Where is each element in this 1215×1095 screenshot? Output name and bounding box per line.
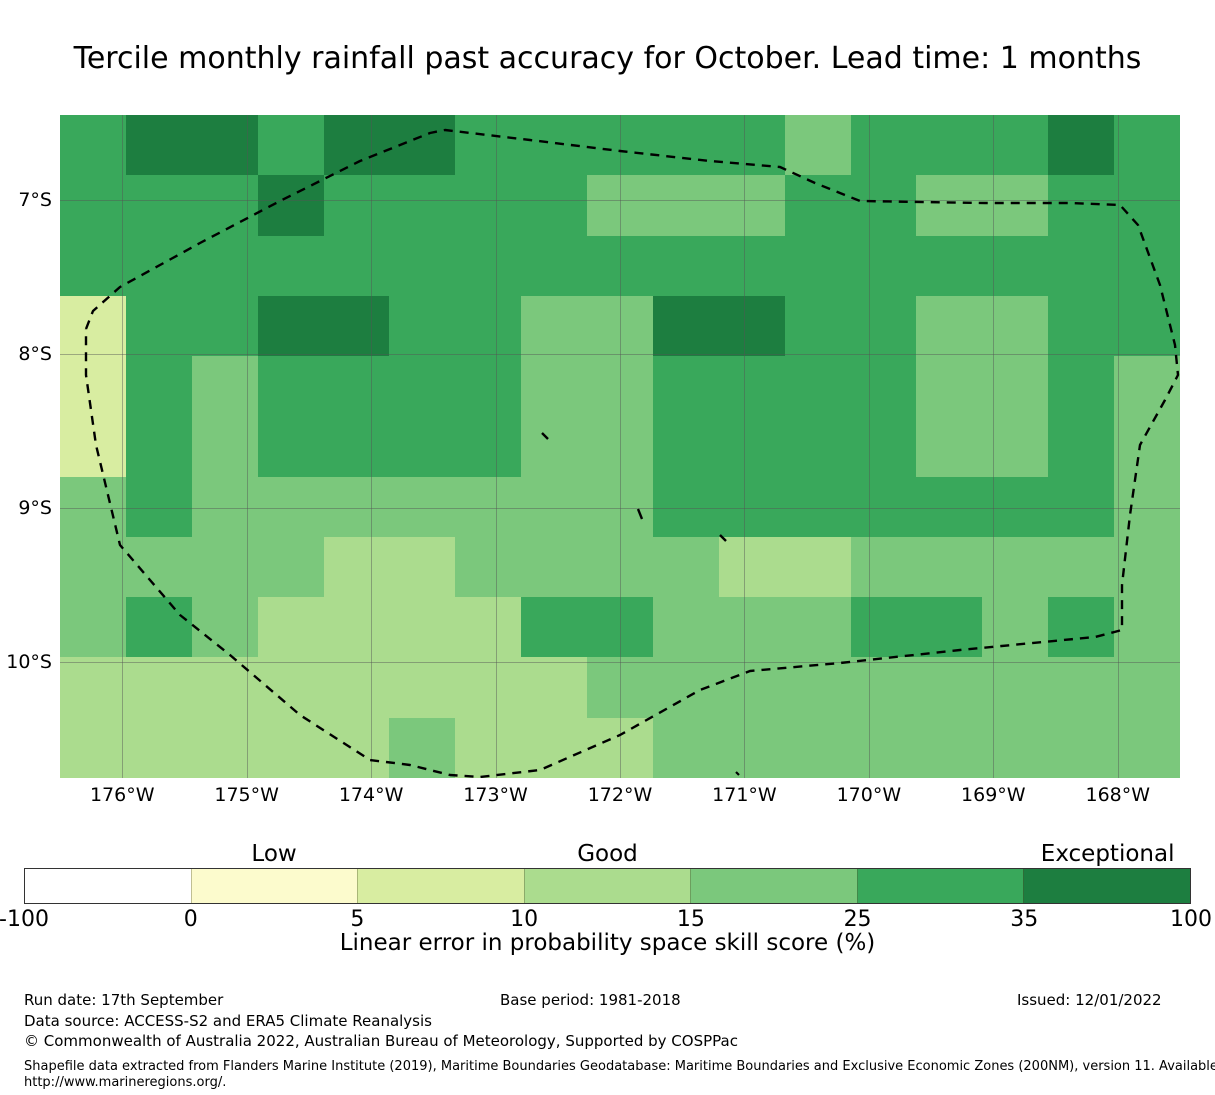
colorbar-segments[interactable]: [24, 868, 1191, 904]
heatmap-cell: [1048, 356, 1114, 416]
colorbar-band-label: Good: [498, 841, 718, 867]
heatmap-cell: [719, 236, 785, 296]
heatmap-cell: [258, 597, 324, 657]
heatmap-cell: [785, 296, 851, 356]
heatmap-cell: [587, 356, 653, 416]
heatmap-cell: [851, 597, 917, 657]
heatmap-cell: [389, 657, 455, 717]
heatmap-cell: [521, 657, 587, 717]
x-tick-label: 172°W: [565, 784, 675, 806]
heatmap-cell: [389, 597, 455, 657]
heatmap-cell: [192, 416, 258, 476]
colorbar-title: Linear error in probability space skill …: [0, 930, 1215, 956]
heatmap-cell: [60, 597, 126, 657]
heatmap-plot: [60, 115, 1180, 778]
heatmap-cell: [851, 477, 917, 537]
y-tick-label: 9°S: [0, 497, 52, 519]
x-tick-label: 169°W: [938, 784, 1048, 806]
x-tick-label: 175°W: [192, 784, 302, 806]
heatmap-cell: [1114, 416, 1180, 476]
heatmap-cell: [324, 477, 390, 537]
heatmap-cell: [653, 657, 719, 717]
colorbar-tick-label: 10: [479, 907, 569, 932]
heatmap-cell: [982, 718, 1048, 778]
heatmap-cell: [126, 416, 192, 476]
heatmap-cell: [587, 477, 653, 537]
heatmap-cell: [719, 657, 785, 717]
heatmap-cell: [916, 537, 982, 597]
heatmap-cell: [455, 597, 521, 657]
heatmap-cell: [324, 175, 390, 235]
heatmap-cell: [982, 657, 1048, 717]
heatmap-cell: [719, 597, 785, 657]
heatmap-cell: [455, 175, 521, 235]
heatmap-cell: [60, 296, 126, 356]
heatmap-cell: [719, 296, 785, 356]
heatmap-cell: [851, 356, 917, 416]
heatmap-cell: [1048, 537, 1114, 597]
heatmap-cell: [1048, 416, 1114, 476]
heatmap-cell: [1048, 236, 1114, 296]
heatmap-cell: [982, 537, 1048, 597]
heatmap-cell: [389, 477, 455, 537]
heatmap-cell: [916, 115, 982, 175]
heatmap-cell: [587, 416, 653, 476]
heatmap-cell: [1114, 537, 1180, 597]
heatmap-cell: [653, 597, 719, 657]
heatmap-cell: [785, 718, 851, 778]
heatmap-cell: [258, 657, 324, 717]
heatmap-grid: [60, 115, 1180, 778]
x-tick-label: 168°W: [1063, 784, 1173, 806]
heatmap-cell: [1114, 236, 1180, 296]
heatmap-cell: [455, 115, 521, 175]
colorbar-segment[interactable]: [25, 869, 191, 903]
heatmap-cell: [324, 416, 390, 476]
y-tick-label: 7°S: [0, 189, 52, 211]
heatmap-cell: [719, 115, 785, 175]
footer-run-date: Run date: 17th September: [24, 991, 223, 1009]
heatmap-cell: [851, 296, 917, 356]
colorbar-segment[interactable]: [857, 869, 1024, 903]
footer-shapefile-line-1: Shapefile data extracted from Flanders M…: [24, 1059, 1215, 1074]
heatmap-cell: [60, 537, 126, 597]
heatmap-cell: [60, 477, 126, 537]
heatmap-cell: [916, 597, 982, 657]
heatmap-cell: [258, 175, 324, 235]
heatmap-cell: [916, 477, 982, 537]
heatmap-cell: [785, 416, 851, 476]
heatmap-cell: [324, 356, 390, 416]
heatmap-cell: [389, 296, 455, 356]
footer-issued-date: Issued: 12/01/2022: [1017, 991, 1162, 1009]
heatmap-cell: [1048, 657, 1114, 717]
footer-copyright: © Commonwealth of Australia 2022, Austra…: [24, 1032, 738, 1050]
x-tick-label: 174°W: [316, 784, 426, 806]
heatmap-cell: [653, 477, 719, 537]
colorbar-tick-label: 5: [312, 907, 402, 932]
heatmap-cell: [916, 416, 982, 476]
heatmap-cell: [521, 537, 587, 597]
heatmap-cell: [1048, 597, 1114, 657]
heatmap-cell: [719, 718, 785, 778]
heatmap-cell: [258, 416, 324, 476]
heatmap-cell: [1114, 657, 1180, 717]
heatmap-cell: [719, 416, 785, 476]
heatmap-cell: [126, 115, 192, 175]
heatmap-cell: [1114, 477, 1180, 537]
heatmap-cell: [1114, 597, 1180, 657]
footer-data-source: Data source: ACCESS-S2 and ERA5 Climate …: [24, 1012, 432, 1030]
heatmap-cell: [1048, 175, 1114, 235]
heatmap-cell: [521, 236, 587, 296]
colorbar-segment[interactable]: [1023, 869, 1190, 903]
colorbar-band-label: Low: [164, 841, 384, 867]
heatmap-cell: [455, 416, 521, 476]
heatmap-cell: [1114, 718, 1180, 778]
heatmap-cell: [982, 597, 1048, 657]
heatmap-cell: [1114, 296, 1180, 356]
heatmap-cell: [389, 416, 455, 476]
heatmap-cell: [324, 537, 390, 597]
heatmap-cell: [258, 236, 324, 296]
heatmap-cell: [192, 175, 258, 235]
heatmap-cell: [521, 356, 587, 416]
heatmap-cell: [258, 115, 324, 175]
page-title: Tercile monthly rainfall past accuracy f…: [0, 40, 1215, 78]
heatmap-cell: [1048, 718, 1114, 778]
heatmap-cell: [60, 115, 126, 175]
heatmap-cell: [916, 657, 982, 717]
heatmap-cell: [126, 718, 192, 778]
heatmap-cell: [1048, 477, 1114, 537]
heatmap-cell: [324, 236, 390, 296]
colorbar-segment[interactable]: [357, 869, 524, 903]
heatmap-cell: [192, 657, 258, 717]
heatmap-cell: [719, 356, 785, 416]
heatmap-cell: [587, 657, 653, 717]
heatmap-cell: [785, 236, 851, 296]
heatmap-cell: [982, 477, 1048, 537]
heatmap-cell: [192, 537, 258, 597]
heatmap-cell: [126, 356, 192, 416]
colorbar-segment[interactable]: [524, 869, 691, 903]
heatmap-cell: [982, 175, 1048, 235]
heatmap-cell: [192, 597, 258, 657]
heatmap-cell: [587, 718, 653, 778]
heatmap-cell: [851, 175, 917, 235]
colorbar-band-label: Exceptional: [998, 841, 1215, 867]
heatmap-cell: [653, 718, 719, 778]
heatmap-cell: [60, 236, 126, 296]
heatmap-cell: [455, 296, 521, 356]
heatmap-cell: [587, 537, 653, 597]
heatmap-cell: [587, 296, 653, 356]
heatmap-cell: [785, 115, 851, 175]
footer-base-period: Base period: 1981-2018: [500, 991, 681, 1009]
heatmap-cell: [258, 356, 324, 416]
heatmap-cell: [455, 236, 521, 296]
heatmap-cell: [126, 597, 192, 657]
heatmap-cell: [982, 356, 1048, 416]
heatmap-cell: [1114, 175, 1180, 235]
heatmap-cell: [916, 175, 982, 235]
heatmap-cell: [126, 296, 192, 356]
heatmap-cell: [1048, 296, 1114, 356]
y-tick-label: 8°S: [0, 343, 52, 365]
heatmap-cell: [126, 236, 192, 296]
heatmap-cell: [60, 718, 126, 778]
heatmap-cell: [455, 718, 521, 778]
heatmap-cell: [851, 657, 917, 717]
heatmap-cell: [389, 718, 455, 778]
heatmap-cell: [192, 236, 258, 296]
heatmap-cell: [851, 236, 917, 296]
heatmap-cell: [455, 537, 521, 597]
heatmap-cell: [324, 296, 390, 356]
heatmap-cell: [982, 236, 1048, 296]
heatmap-cell: [653, 175, 719, 235]
heatmap-cell: [455, 356, 521, 416]
heatmap-cell: [389, 537, 455, 597]
colorbar-segment[interactable]: [191, 869, 358, 903]
heatmap-cell: [851, 718, 917, 778]
heatmap-cell: [653, 115, 719, 175]
colorbar-segment[interactable]: [690, 869, 857, 903]
heatmap-cell: [785, 597, 851, 657]
colorbar-tick-label: 35: [979, 907, 1069, 932]
heatmap-cell: [785, 477, 851, 537]
colorbar-tick-label: 15: [646, 907, 736, 932]
heatmap-cell: [851, 115, 917, 175]
heatmap-cell: [785, 175, 851, 235]
heatmap-cell: [60, 657, 126, 717]
heatmap-cell: [653, 356, 719, 416]
heatmap-cell: [1048, 115, 1114, 175]
heatmap-cell: [521, 416, 587, 476]
colorbar[interactable]: [24, 868, 1191, 904]
heatmap-cell: [719, 537, 785, 597]
heatmap-cell: [521, 296, 587, 356]
heatmap-cell: [126, 175, 192, 235]
heatmap-cell: [192, 477, 258, 537]
heatmap-cell: [389, 175, 455, 235]
heatmap-cell: [851, 416, 917, 476]
heatmap-cell: [587, 597, 653, 657]
heatmap-cell: [324, 597, 390, 657]
heatmap-cell: [521, 597, 587, 657]
heatmap-cell: [1114, 115, 1180, 175]
heatmap-cell: [60, 175, 126, 235]
heatmap-cell: [982, 115, 1048, 175]
footer-shapefile-line-2: http://www.marineregions.org/.: [24, 1075, 226, 1090]
heatmap-cell: [192, 718, 258, 778]
y-tick-label: 10°S: [0, 651, 52, 673]
heatmap-cell: [916, 718, 982, 778]
heatmap-cell: [653, 236, 719, 296]
heatmap-cell: [982, 416, 1048, 476]
heatmap-cell: [389, 236, 455, 296]
heatmap-cell: [389, 115, 455, 175]
heatmap-cell: [324, 115, 390, 175]
heatmap-cell: [785, 356, 851, 416]
x-tick-label: 170°W: [814, 784, 924, 806]
heatmap-cell: [192, 296, 258, 356]
heatmap-cell: [324, 657, 390, 717]
heatmap-cell: [389, 356, 455, 416]
heatmap-cell: [785, 657, 851, 717]
heatmap-cell: [587, 115, 653, 175]
heatmap-cell: [60, 416, 126, 476]
heatmap-cell: [982, 296, 1048, 356]
heatmap-cell: [258, 296, 324, 356]
heatmap-cell: [126, 477, 192, 537]
heatmap-cell: [258, 477, 324, 537]
heatmap-cell: [1114, 356, 1180, 416]
heatmap-cell: [587, 175, 653, 235]
heatmap-cell: [916, 296, 982, 356]
heatmap-cell: [455, 477, 521, 537]
heatmap-cell: [455, 657, 521, 717]
heatmap-cell: [916, 236, 982, 296]
heatmap-cell: [192, 115, 258, 175]
heatmap-cell: [653, 296, 719, 356]
heatmap-cell: [192, 356, 258, 416]
x-tick-label: 171°W: [689, 784, 799, 806]
heatmap-cell: [719, 175, 785, 235]
colorbar-tick-label: 25: [813, 907, 903, 932]
heatmap-cell: [521, 477, 587, 537]
heatmap-cell: [126, 657, 192, 717]
x-tick-label: 173°W: [441, 784, 551, 806]
heatmap-cell: [653, 537, 719, 597]
heatmap-cell: [521, 718, 587, 778]
heatmap-cell: [851, 537, 917, 597]
colorbar-tick-label: 0: [146, 907, 236, 932]
heatmap-cell: [258, 537, 324, 597]
heatmap-cell: [521, 115, 587, 175]
heatmap-cell: [916, 356, 982, 416]
x-tick-label: 176°W: [67, 784, 177, 806]
heatmap-cell: [324, 718, 390, 778]
heatmap-cell: [258, 718, 324, 778]
heatmap-cell: [653, 416, 719, 476]
colorbar-tick-label: -100: [0, 907, 69, 932]
colorbar-tick-label: 100: [1146, 907, 1215, 932]
heatmap-cell: [126, 537, 192, 597]
heatmap-cell: [587, 236, 653, 296]
heatmap-cell: [521, 175, 587, 235]
heatmap-cell: [719, 477, 785, 537]
heatmap-cell: [60, 356, 126, 416]
heatmap-cell: [785, 537, 851, 597]
